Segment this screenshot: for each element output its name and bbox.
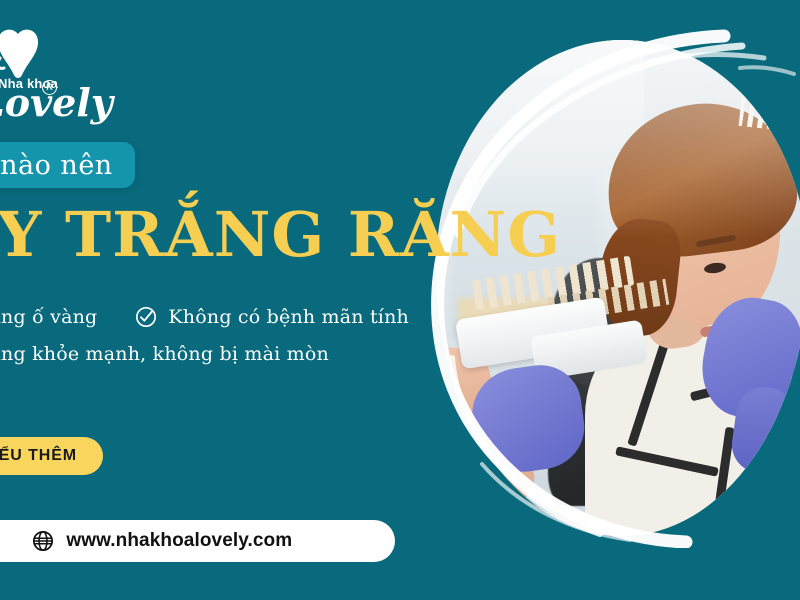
check-circle-icon xyxy=(135,306,157,328)
benefit-label: Răng khỏe mạnh, không bị mài mòn xyxy=(0,343,329,365)
eyebrow-badge: hi nào nên xyxy=(0,142,135,188)
benefit-row: Răng ố vàng Không có bệnh mãn tính xyxy=(0,298,462,335)
eyebrow-badge-label: hi nào nên xyxy=(0,150,113,181)
benefit-label: Răng ố vàng xyxy=(0,306,97,328)
registered-trademark-icon: R xyxy=(42,80,57,95)
learn-more-button[interactable]: ÌM HIỂU THÊM xyxy=(0,437,103,475)
list-item: Không có bệnh mãn tính xyxy=(135,306,409,328)
benefit-list: Răng ố vàng Không có bệnh mãn tính Răng … xyxy=(0,298,462,372)
benefit-label: Không có bệnh mãn tính xyxy=(168,306,409,328)
promo-banner: Nha khoa Lovely R hi nào nên ẨY TRẮNG RĂ… xyxy=(0,0,800,600)
benefit-row: Răng khỏe mạnh, không bị mài mòn xyxy=(0,335,462,372)
contact-bar: 1.414.559 www.nhakhoalovely.com xyxy=(0,520,395,562)
tooth-heart-icon xyxy=(0,28,40,80)
page-title: ẨY TRẮNG RĂNG xyxy=(0,198,561,272)
brand-logo[interactable]: Nha khoa Lovely R xyxy=(0,28,114,110)
list-item: Răng khỏe mạnh, không bị mài mòn xyxy=(0,343,329,365)
photo-circle-mask xyxy=(436,40,800,536)
learn-more-label: ÌM HIỂU THÊM xyxy=(0,447,77,465)
website-url[interactable]: www.nhakhoalovely.com xyxy=(66,530,292,552)
list-item: Răng ố vàng xyxy=(0,306,97,328)
globe-icon xyxy=(32,530,54,552)
hero-photo xyxy=(424,28,800,548)
